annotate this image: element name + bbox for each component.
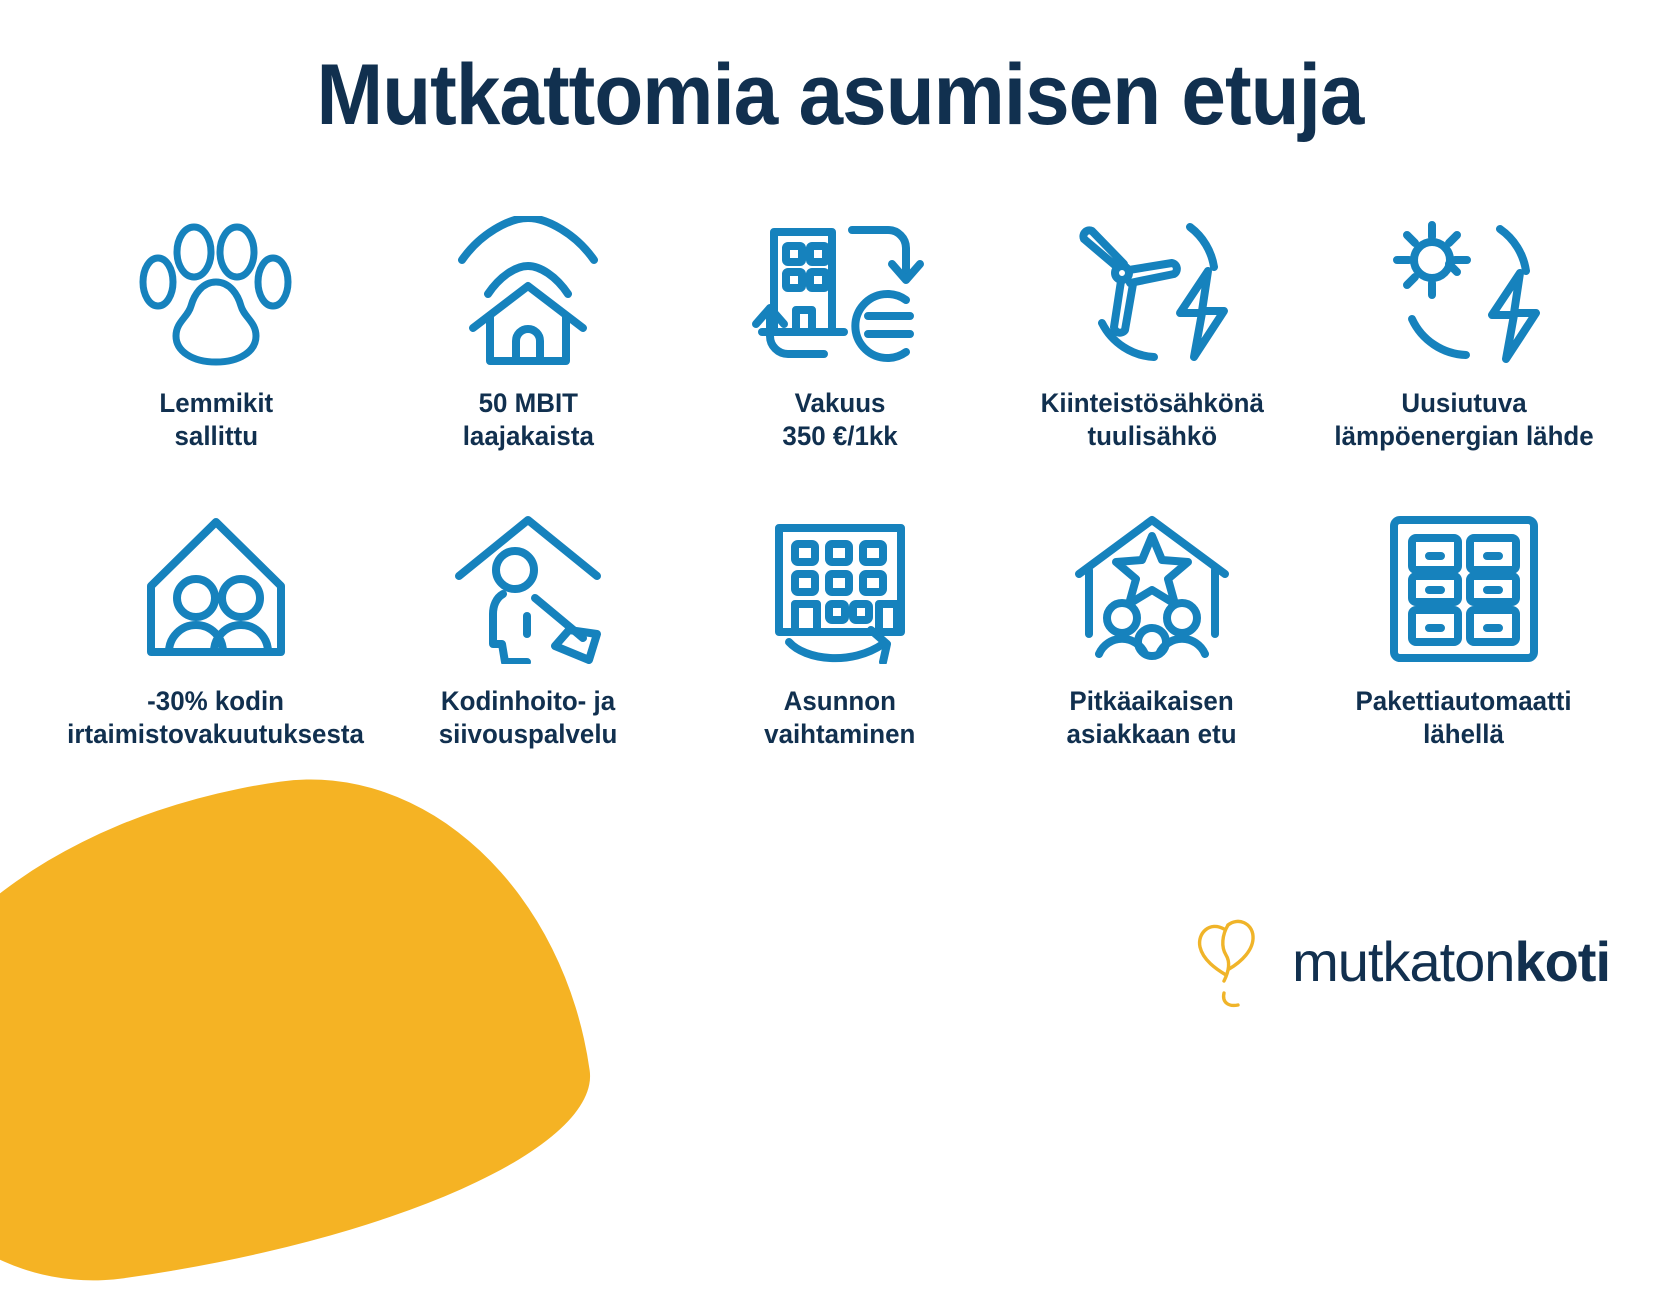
benefit-label-line2: irtaimistovakuutuksesta [68,718,365,751]
benefit-label-line2: vaihtaminen [764,718,915,751]
benefit-label-line2: lähellä [1356,718,1572,751]
heart-swirl-icon [1194,913,1270,1009]
building-euro-exchange-icon [748,207,933,375]
benefit-label: Lemmikit sallittu [159,387,273,453]
benefit-label: Asunnon vaihtaminen [764,685,915,751]
brand-logo: mutkatonkoti [1194,913,1610,1009]
logo-word-light: mutkaton [1292,930,1514,993]
benefit-label-line2: asiakkaan etu [1067,718,1237,751]
benefit-label: Vakuus 350 €/1kk [782,387,897,453]
benefit-item: -30% kodin irtaimistovakuutuksesta [60,505,372,751]
benefit-label-line1: Pitkäaikaisen [1067,685,1237,718]
benefit-item: Kiinteistösähkönä tuulisähkö [996,207,1308,453]
benefit-item: Vakuus 350 €/1kk [684,207,996,453]
paw-print-icon [136,207,296,375]
benefit-label-line2: laajakaista [462,420,593,453]
benefit-item: Lemmikit sallittu [60,207,372,453]
wifi-house-icon [446,207,611,375]
house-family-icon [131,505,301,673]
benefit-item: Asunnon vaihtaminen [684,505,996,751]
benefit-label-line1: Pakettiautomaatti [1356,685,1572,718]
benefit-item: Pitkäaikaisen asiakkaan etu [996,505,1308,751]
benefit-item: Kodinhoito- ja siivouspalvelu [372,505,684,751]
benefit-label-line2: lämpöenergian lähde [1334,420,1593,453]
benefit-label: Pakettiautomaatti lähellä [1356,685,1572,751]
logo-word-bold: koti [1514,930,1610,993]
apartment-swap-icon [753,505,928,673]
benefit-item: 50 MBIT laajakaista [372,207,684,453]
benefit-label-line2: tuulisähkö [1040,420,1263,453]
benefit-label: Kodinhoito- ja siivouspalvelu [439,685,618,751]
benefit-label-line2: sallittu [159,420,273,453]
benefit-label-line1: Kodinhoito- ja [439,685,618,718]
benefit-label-line1: Asunnon [764,685,915,718]
benefit-label-line1: -30% kodin [68,685,365,718]
benefit-label-line1: Kiinteistösähkönä [1040,387,1263,420]
benefit-item: Uusiutuva lämpöenergian lähde [1308,207,1620,453]
wind-turbine-icon [1062,207,1242,375]
infographic-page: Mutkattomia asumisen etuja Lemmikit sall… [0,0,1680,1121]
parcel-locker-icon [1384,505,1544,673]
page-title: Mutkattomia asumisen etuja [59,0,1621,145]
logo-wordmark: mutkatonkoti [1292,929,1610,994]
benefit-label: Uusiutuva lämpöenergian lähde [1334,387,1593,453]
benefit-label: -30% kodin irtaimistovakuutuksesta [68,685,365,751]
benefit-label: Pitkäaikaisen asiakkaan etu [1067,685,1237,751]
benefit-label: Kiinteistösähkönä tuulisähkö [1040,387,1263,453]
benefit-label-line2: 350 €/1kk [782,420,897,453]
cleaning-service-icon [443,505,613,673]
solar-energy-icon [1374,207,1554,375]
loyal-customer-icon [1065,505,1240,673]
benefit-label-line1: Vakuus [782,387,897,420]
benefit-label-line1: 50 MBIT [462,387,593,420]
benefit-label-line1: Uusiutuva [1334,387,1593,420]
benefit-label-line2: siivouspalvelu [439,718,618,751]
benefits-grid: Lemmikit sallittu 50 MBIT laajakaista [60,207,1620,751]
benefit-item: Pakettiautomaatti lähellä [1308,505,1620,751]
benefit-label: 50 MBIT laajakaista [462,387,593,453]
benefit-label-line1: Lemmikit [159,387,273,420]
